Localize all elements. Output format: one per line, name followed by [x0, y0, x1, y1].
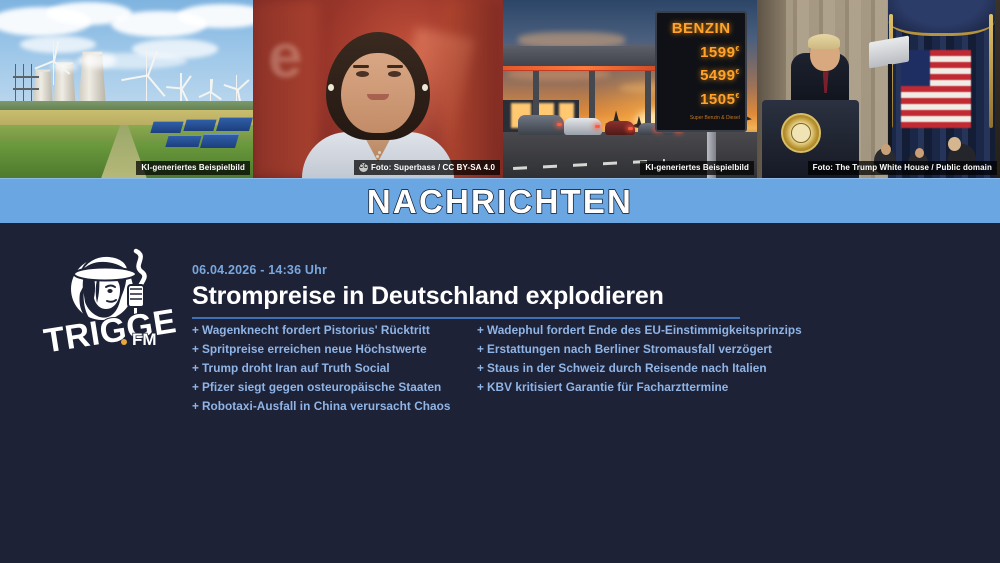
- ticker-item[interactable]: +Trump droht Iran auf Truth Social: [192, 359, 477, 378]
- ticker-item[interactable]: +Spritpreise erreichen neue Höchstwerte: [192, 340, 477, 359]
- photo-strip: KI-generiertes Beispielbild e: [0, 0, 1000, 178]
- article-timestamp: 06.04.2026 - 14:36 Uhr: [192, 263, 982, 277]
- ticker-item[interactable]: +KBV kritisiert Garantie für Facharztter…: [477, 378, 877, 397]
- photo-credit-text: KI-generiertes Beispielbild: [141, 164, 245, 172]
- section-banner-title: NACHRICHTEN: [367, 185, 633, 218]
- section-banner: NACHRICHTEN: [0, 178, 1000, 223]
- ticker-item-label: Pfizer siegt gegen osteuropäische Staate…: [202, 380, 441, 394]
- ticker-bullet: +: [192, 342, 199, 356]
- gas-station-illustration: BENZIN 1599€ 5499€ 1505€ Super Benzin & …: [503, 0, 757, 178]
- ticker-item-label: Trump droht Iran auf Truth Social: [202, 361, 390, 375]
- article-headline: Strompreise in Deutschland explodieren: [192, 283, 982, 311]
- ticker-item[interactable]: +Erstattungen nach Berliner Stromausfall…: [477, 340, 877, 359]
- ticker-column-right: +Wadephul fordert Ende des EU-Einstimmig…: [477, 321, 877, 417]
- main-content: TRIGGER FM 06.04.2026 - 14:36 Uhr Stromp…: [0, 223, 1000, 563]
- ticker-column-left: +Wagenknecht fordert Pistorius' Rücktrit…: [192, 321, 477, 417]
- photo-credit-text: Foto: The Trump White House / Public dom…: [813, 164, 992, 172]
- ticker-item-label: Erstattungen nach Berliner Stromausfall …: [487, 342, 772, 356]
- headline-ticker: +Wagenknecht fordert Pistorius' Rücktrit…: [192, 321, 982, 417]
- headline-divider: [192, 317, 740, 319]
- photo-credit: KI-generiertes Beispielbild: [640, 161, 754, 175]
- logo-suffix: FM: [132, 330, 157, 349]
- photo-credit: Foto: The Trump White House / Public dom…: [808, 161, 997, 175]
- ticker-item[interactable]: +Wagenknecht fordert Pistorius' Rücktrit…: [192, 321, 477, 340]
- photo-credit: CC Foto: Superbass / CC BY-SA 4.0: [354, 160, 500, 175]
- energy-landscape-illustration: [0, 0, 253, 178]
- ticker-bullet: +: [192, 361, 199, 375]
- price-board-row: 1505€: [662, 92, 739, 107]
- ticker-item[interactable]: +Robotaxi-Ausfall in China verursacht Ch…: [192, 397, 477, 416]
- ticker-bullet: +: [477, 342, 484, 356]
- photo-gas-station-sunset: BENZIN 1599€ 5499€ 1505€ Super Benzin & …: [503, 0, 757, 178]
- ticker-item-label: Wadephul fordert Ende des EU-Einstimmigk…: [487, 323, 802, 337]
- ticker-item[interactable]: +Wadephul fordert Ende des EU-Einstimmig…: [477, 321, 877, 340]
- ticker-bullet: +: [192, 380, 199, 394]
- portrait-illustration: e: [253, 0, 503, 178]
- ticker-item-label: Spritpreise erreichen neue Höchstwerte: [202, 342, 427, 356]
- ticker-item-label: KBV kritisiert Garantie für Facharztterm…: [487, 380, 728, 394]
- ticker-bullet: +: [477, 323, 484, 337]
- photo-wagenknecht-portrait: e CC Foto: Superbass / CC BY-SA 4.0: [253, 0, 503, 178]
- lead-article[interactable]: 06.04.2026 - 14:36 Uhr Strompreise in De…: [192, 263, 982, 319]
- price-board-title: BENZIN: [662, 21, 739, 36]
- photo-credit-text: KI-generiertes Beispielbild: [645, 164, 749, 172]
- trigger-fm-logo[interactable]: TRIGGER FM: [36, 245, 176, 353]
- ticker-item-label: Robotaxi-Ausfall in China verursacht Cha…: [202, 399, 451, 413]
- photo-energy-landscape: KI-generiertes Beispielbild: [0, 0, 253, 178]
- photo-credit-text: Foto: Superbass / CC BY-SA 4.0: [371, 164, 495, 172]
- trigger-fm-logo-icon: TRIGGER FM: [36, 245, 176, 353]
- price-board-row: 1599€: [662, 45, 739, 60]
- ticker-bullet: +: [477, 361, 484, 375]
- creative-commons-icon: CC: [359, 163, 368, 172]
- ticker-bullet: +: [192, 399, 199, 413]
- podium-illustration: [757, 0, 1000, 178]
- ticker-item-label: Staus in der Schweiz durch Reisende nach…: [487, 361, 767, 375]
- photo-credit: KI-generiertes Beispielbild: [136, 161, 250, 175]
- ticker-bullet: +: [477, 380, 484, 394]
- ticker-item[interactable]: +Pfizer siegt gegen osteuropäische Staat…: [192, 378, 477, 397]
- ticker-item-label: Wagenknecht fordert Pistorius' Rücktritt: [202, 323, 430, 337]
- ticker-item[interactable]: +Staus in der Schweiz durch Reisende nac…: [477, 359, 877, 378]
- photo-trump-podium: Foto: The Trump White House / Public dom…: [757, 0, 1000, 178]
- price-board-row: 5499€: [662, 68, 739, 83]
- ticker-bullet: +: [192, 323, 199, 337]
- price-board-footnote: Super Benzin & Diesel: [662, 115, 739, 121]
- news-screen: KI-generiertes Beispielbild e: [0, 0, 1000, 563]
- fuel-price-board: BENZIN 1599€ 5499€ 1505€ Super Benzin & …: [655, 11, 746, 132]
